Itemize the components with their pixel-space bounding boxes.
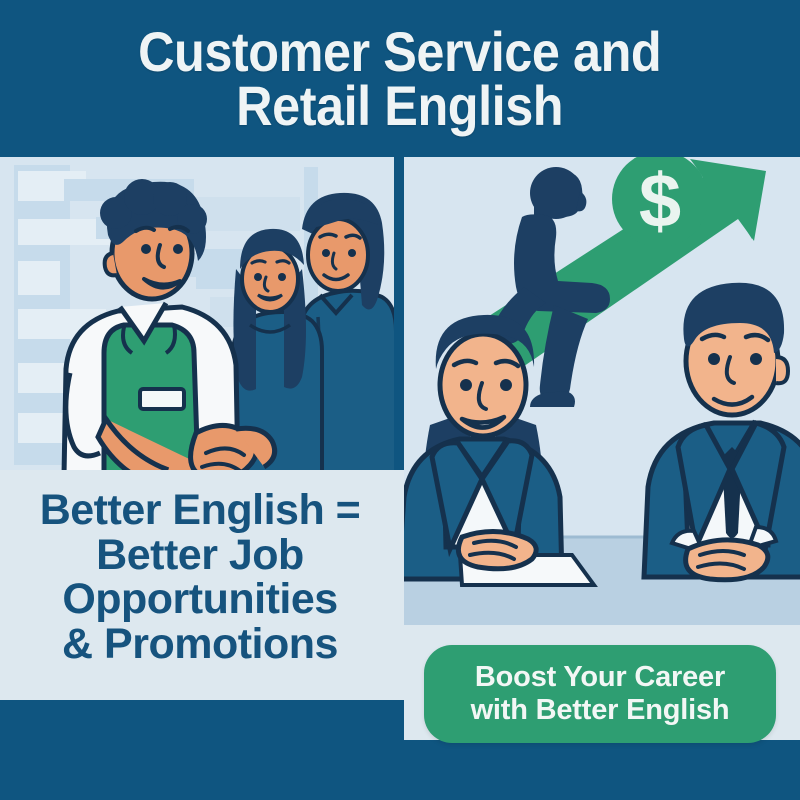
right-illustration-panel: $ <box>404 157 800 630</box>
boost-career-button-label: Boost Your Career with Better English <box>471 661 730 727</box>
retail-handshake-illustration <box>0 157 396 475</box>
page-title: Customer Service and Retail English <box>120 25 679 133</box>
poster-canvas: Customer Service and Retail English <box>0 0 800 800</box>
headline-text: Better English = Better Job Opportunitie… <box>0 488 400 667</box>
boost-career-button[interactable]: Boost Your Career with Better English <box>424 645 776 743</box>
left-illustration-panel <box>0 157 396 475</box>
svg-text:$: $ <box>639 159 681 244</box>
poster-header: Customer Service and Retail English <box>0 0 800 157</box>
career-growth-illustration: $ <box>404 157 800 630</box>
footer-bar <box>0 740 800 800</box>
